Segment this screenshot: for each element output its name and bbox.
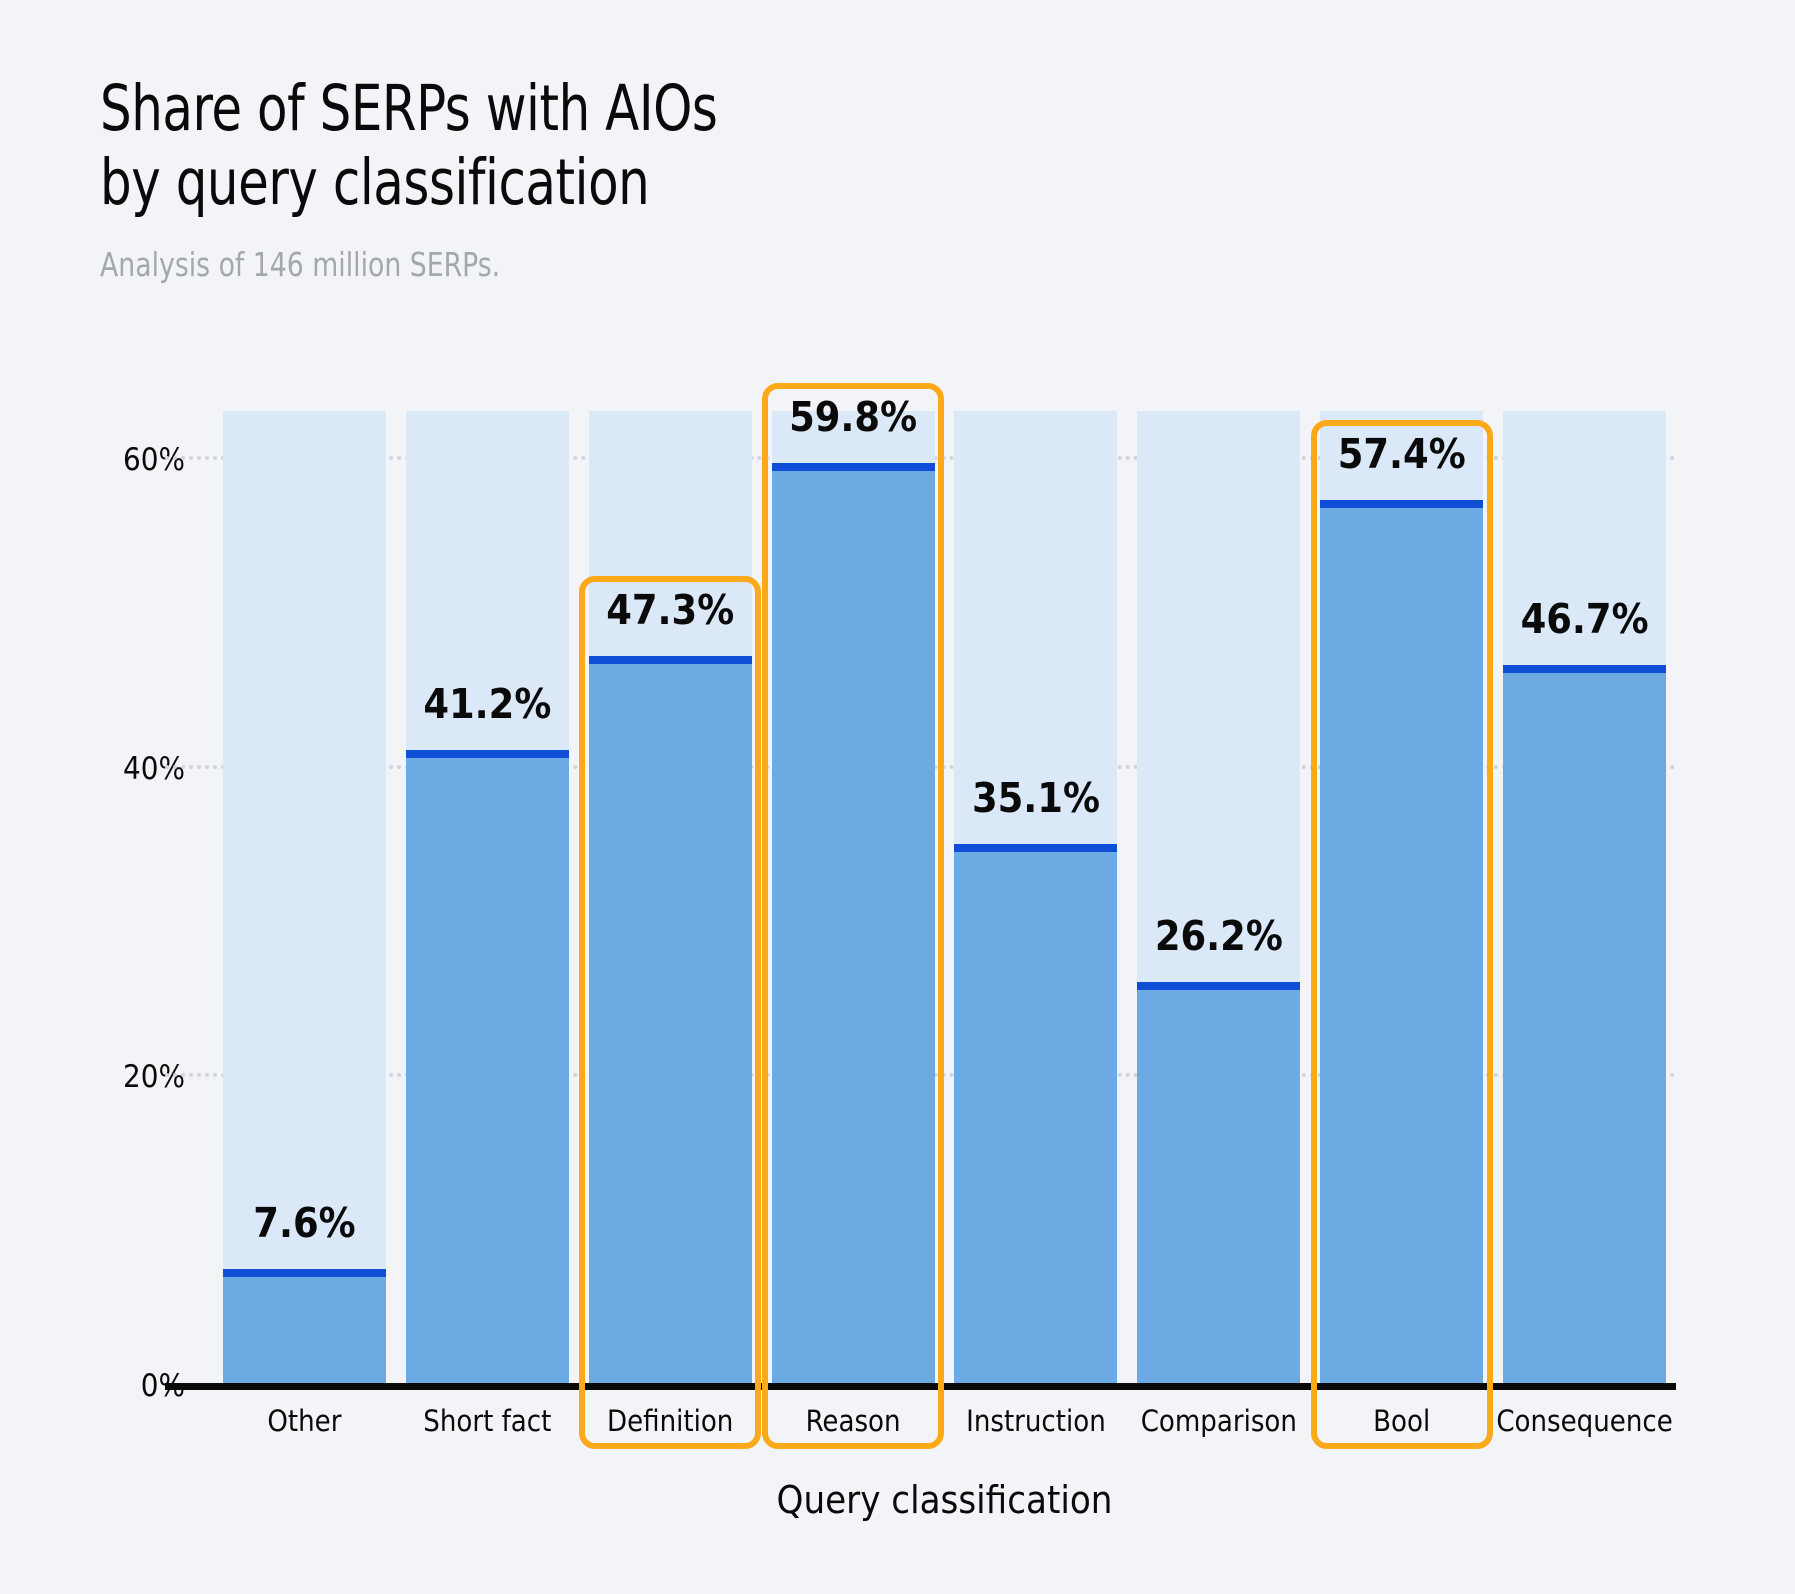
x-axis-label-slot: Comparison <box>1127 1404 1310 1438</box>
x-axis-label-slot: Bool <box>1310 1404 1493 1438</box>
bar-fill[interactable] <box>1137 982 1300 1386</box>
bar-fill[interactable] <box>589 656 752 1386</box>
x-axis-tick-label: Short fact <box>423 1404 551 1438</box>
x-axis-labels: OtherShort factDefinitionReasonInstructi… <box>213 1404 1676 1438</box>
chart-header: Share of SERPs with AIOs by query classi… <box>100 72 1300 284</box>
x-axis-tick-label: Instruction <box>966 1404 1106 1438</box>
bar-value-label: 47.3% <box>606 586 734 634</box>
bar-fill[interactable] <box>954 844 1117 1386</box>
x-axis-tick-label: Other <box>267 1404 341 1438</box>
bar-value-label: 41.2% <box>423 680 551 728</box>
bar-column[interactable]: 41.2% <box>406 383 569 1386</box>
x-axis-label-slot: Definition <box>579 1404 762 1438</box>
x-axis-line <box>165 1383 1676 1390</box>
bar-column[interactable]: 57.4% <box>1320 383 1483 1386</box>
bar-column[interactable]: 47.3% <box>589 383 752 1386</box>
y-axis-labels: 0%20%40%60% <box>0 383 185 1386</box>
bar-column[interactable]: 46.7% <box>1503 383 1666 1386</box>
bar-fill[interactable] <box>772 463 935 1386</box>
bar-slot[interactable]: 46.7% <box>1493 383 1676 1386</box>
bar-slot[interactable]: 59.8% <box>762 383 945 1386</box>
chart-container: Share of SERPs with AIOs by query classi… <box>0 0 1795 1594</box>
x-axis-label-slot: Instruction <box>945 1404 1128 1438</box>
bar-column[interactable]: 35.1% <box>954 383 1117 1386</box>
x-axis-label-slot: Reason <box>762 1404 945 1438</box>
x-axis-tick-label: Reason <box>806 1404 901 1438</box>
bar-slot[interactable]: 47.3% <box>579 383 762 1386</box>
bar-value-label: 57.4% <box>1338 430 1466 478</box>
bar-value-label: 46.7% <box>1521 595 1649 643</box>
bar-slot[interactable]: 35.1% <box>945 383 1128 1386</box>
bar-column[interactable]: 7.6% <box>223 383 386 1386</box>
x-axis-tick-label: Definition <box>607 1404 733 1438</box>
bar-slot[interactable]: 41.2% <box>396 383 579 1386</box>
x-axis-tick-label: Bool <box>1373 1404 1430 1438</box>
bar-slot[interactable]: 57.4% <box>1310 383 1493 1386</box>
x-axis-tick-label: Consequence <box>1496 1404 1672 1438</box>
y-axis-tick-label: 60% <box>123 442 185 478</box>
bar-fill[interactable] <box>1503 665 1666 1386</box>
bar-value-label: 59.8% <box>789 393 917 441</box>
bar-fill[interactable] <box>223 1269 386 1386</box>
y-axis-tick-label: 40% <box>123 751 185 787</box>
bar-column[interactable]: 26.2% <box>1137 383 1300 1386</box>
bar-value-label: 35.1% <box>972 774 1100 822</box>
x-axis-tick-label: Comparison <box>1141 1404 1297 1438</box>
bar-fill[interactable] <box>406 750 569 1386</box>
bar-column[interactable]: 59.8% <box>772 383 935 1386</box>
x-axis-label-slot: Other <box>213 1404 396 1438</box>
x-axis-label-slot: Consequence <box>1493 1404 1676 1438</box>
bar-fill[interactable] <box>1320 500 1483 1386</box>
bar-slot[interactable]: 7.6% <box>213 383 396 1386</box>
bar-value-label: 7.6% <box>253 1199 355 1247</box>
bar-slot[interactable]: 26.2% <box>1127 383 1310 1386</box>
chart-subtitle: Analysis of 146 million SERPs. <box>100 245 1180 284</box>
bar-series: 7.6%41.2%47.3%59.8%35.1%26.2%57.4%46.7% <box>213 383 1676 1386</box>
bar-value-label: 26.2% <box>1155 912 1283 960</box>
y-axis-tick-label: 20% <box>123 1059 185 1095</box>
x-axis-label-slot: Short fact <box>396 1404 579 1438</box>
x-axis-title: Query classification <box>213 1478 1676 1522</box>
page-title: Share of SERPs with AIOs by query classi… <box>100 72 1156 219</box>
plot-area: 7.6%41.2%47.3%59.8%35.1%26.2%57.4%46.7% <box>213 383 1676 1386</box>
